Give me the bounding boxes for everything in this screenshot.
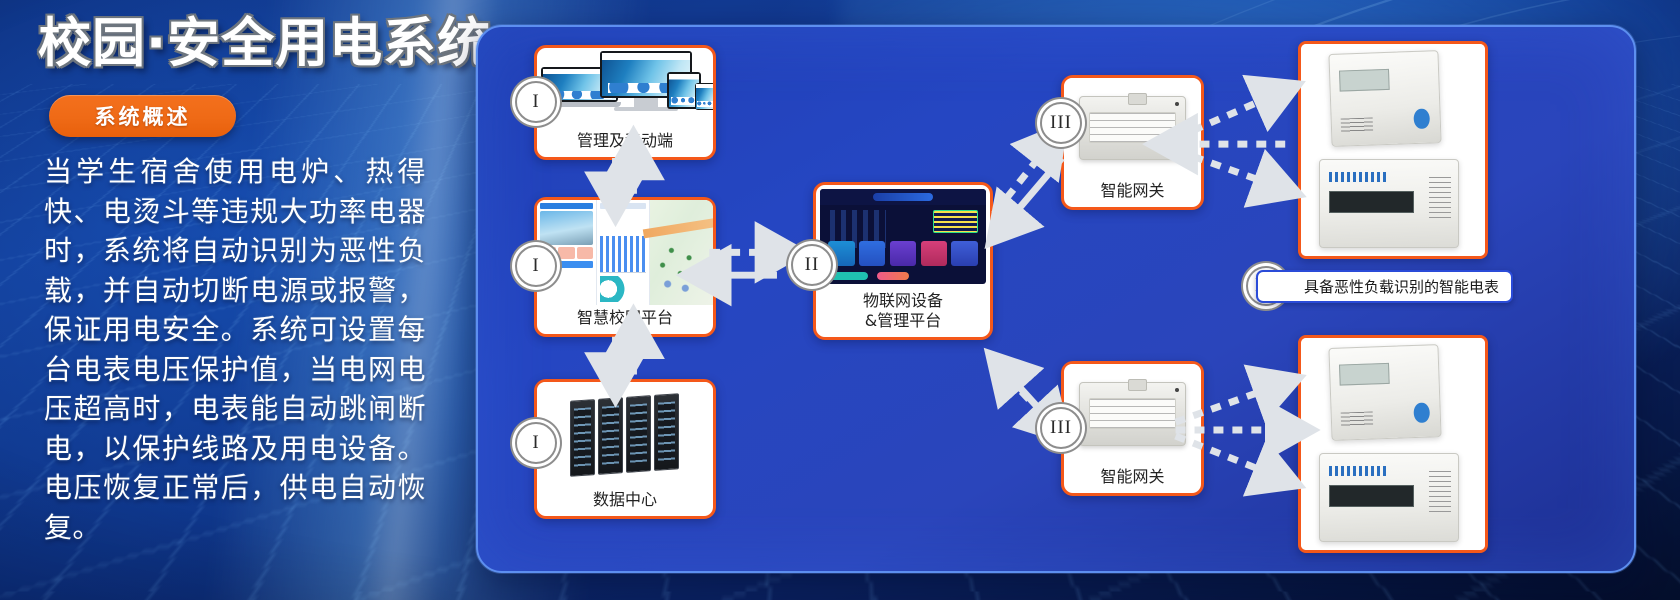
smart-meters-bottom-thumbnail (1301, 338, 1485, 550)
overview-paragraph: 当学生宿舍使用电炉、热得快、电烫斗等违规大功率电器时，系统将自动识别为恶性负载，… (44, 152, 426, 547)
gateway-bottom-thumbnail (1064, 364, 1201, 464)
numeral-badge-i-campus: I (515, 245, 557, 287)
campus-map (650, 200, 713, 305)
gateway-top-thumbnail (1064, 78, 1201, 178)
data-center-thumbnail (537, 382, 713, 487)
iot-platform-thumbnail (816, 185, 990, 288)
node-smart-meters-bottom[interactable] (1298, 335, 1488, 553)
gateway-device-icon (1079, 382, 1186, 446)
section-badge-system-overview: 系统概述 (49, 95, 236, 137)
node-smart-campus-platform[interactable]: 智慧校园平台 (534, 197, 716, 337)
node-iot-platform[interactable]: 物联网设备 &管理平台 (813, 182, 993, 340)
node-caption: 智慧校园平台 (573, 305, 677, 334)
node-caption: 智能网关 (1096, 464, 1168, 493)
numeral-badge-i-management: I (515, 81, 557, 123)
management-mobile-thumbnail (537, 48, 713, 128)
section-badge-label: 系统概述 (95, 101, 191, 131)
three-phase-meter-icon (1319, 159, 1459, 248)
gateway-device-icon (1079, 96, 1186, 160)
connector-iot-to-gateway-top (994, 146, 1048, 214)
page-title: 校园·安全用电系统 (38, 16, 491, 72)
connector-gateway-top-to-iot (1006, 158, 1062, 224)
node-data-center[interactable]: 数据中心 (534, 379, 716, 519)
node-caption: 管理及移动端 (573, 128, 677, 157)
numeral-badge-iii-gateway-bottom: III (1040, 407, 1082, 449)
server-rack-icon (570, 393, 679, 476)
numeral-badge-ii-iot: II (791, 244, 833, 286)
left-text-column: 校园·安全用电系统 系统概述 当学生宿舍使用电炉、热得快、电烫斗等违规大功率电器… (0, 0, 470, 600)
smart-campus-thumbnail (537, 200, 713, 305)
connector-iot-to-gateway-bottom (994, 363, 1050, 423)
node-management-mobile[interactable]: 管理及移动端 (534, 45, 716, 160)
phone-icon (695, 83, 713, 109)
smart-meter-label: 具备恶性负载识别的智能电表 (1256, 270, 1513, 303)
numeral-badge-iii-gateway-top: III (1040, 102, 1082, 144)
architecture-diagram-panel: 管理及移动端 I 智慧校园平台 I (476, 25, 1636, 573)
numeral-badge-i-datacenter: I (515, 422, 557, 464)
node-caption: 数据中心 (589, 487, 661, 516)
smart-meter-label-text: 具备恶性负载识别的智能电表 (1304, 276, 1499, 297)
three-phase-meter-icon (1319, 453, 1459, 542)
node-caption: 物联网设备 &管理平台 (859, 288, 947, 337)
node-caption: 智能网关 (1096, 178, 1168, 207)
single-phase-meter-icon (1329, 51, 1443, 148)
node-smart-gateway-bottom[interactable]: 智能网关 (1061, 361, 1204, 496)
node-smart-gateway-top[interactable]: 智能网关 (1061, 75, 1204, 210)
smart-meters-top-thumbnail (1301, 44, 1485, 256)
single-phase-meter-icon (1329, 345, 1443, 442)
node-smart-meters-top[interactable] (1298, 41, 1488, 259)
